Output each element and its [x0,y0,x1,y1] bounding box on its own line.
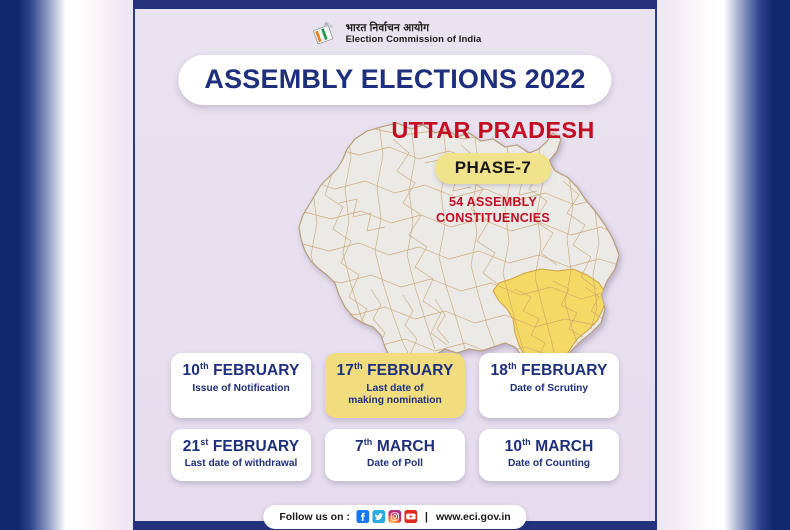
schedule-card[interactable]: 21st FEBRUARY Last date of withdrawal [171,429,311,481]
schedule-date: 10th MARCH [485,438,613,455]
website-url[interactable]: www.eci.gov.in [436,511,511,523]
right-vertical-rule [655,9,657,521]
footer-separator: | [425,511,428,523]
schedule-desc: Last date of withdrawal [177,458,305,471]
schedule-desc: Date of Counting [485,458,613,471]
footer-bar: Follow us on : [263,505,526,529]
poster-panel: भारत निर्वाचन आयोग Election Commission o… [135,9,655,521]
constituency-count-line2: CONSTITUENCIES [368,210,618,226]
facebook-icon[interactable] [356,510,369,523]
twitter-icon[interactable] [372,510,385,523]
schedule-desc: Date of Scrutiny [485,383,613,396]
top-navy-strip [133,0,657,9]
schedule-desc: Issue of Notification [177,383,305,396]
social-links [356,510,417,523]
schedule-grid: 10th FEBRUARY Issue of Notification 17th… [171,353,619,481]
schedule-card[interactable]: 17th FEBRUARY Last date ofmaking nominat… [325,353,465,418]
eci-name-hindi: भारत निर्वाचन आयोग [346,23,482,35]
follow-us-label: Follow us on : [279,511,350,523]
schedule-row: 10th FEBRUARY Issue of Notification 17th… [171,353,619,418]
youtube-icon[interactable] [404,510,417,523]
eci-org-text: भारत निर्वाचन आयोग Election Commission o… [346,23,482,45]
page-title: ASSEMBLY ELECTIONS 2022 [178,55,611,105]
instagram-icon[interactable] [388,510,401,523]
constituency-count-line1: 54 ASSEMBLY [368,194,618,210]
schedule-date: 17th FEBRUARY [331,362,459,379]
schedule-desc: Last date ofmaking nomination [331,383,459,409]
page-title-text: ASSEMBLY ELECTIONS 2022 [204,64,585,94]
schedule-card[interactable]: 10th MARCH Date of Counting [479,429,619,481]
eci-ballot-box-icon [309,19,339,49]
schedule-card[interactable]: 10th FEBRUARY Issue of Notification [171,353,311,418]
schedule-card[interactable]: 7th MARCH Date of Poll [325,429,465,481]
eci-header: भारत निर्वाचन आयोग Election Commission o… [135,19,655,49]
phase-badge: PHASE-7 [435,153,552,184]
phase-badge-label: PHASE-7 [455,158,532,177]
constituency-count: 54 ASSEMBLY CONSTITUENCIES [368,194,618,226]
state-name: UTTAR PRADESH [368,117,618,144]
schedule-date: 7th MARCH [331,438,459,455]
schedule-desc: Date of Poll [331,458,459,471]
schedule-row: 21st FEBRUARY Last date of withdrawal 7t… [171,429,619,481]
state-info-block: UTTAR PRADESH PHASE-7 54 ASSEMBLY CONSTI… [368,117,618,226]
schedule-date: 21st FEBRUARY [177,438,305,455]
poster-canvas: भारत निर्वाचन आयोग Election Commission o… [0,0,790,530]
schedule-card[interactable]: 18th FEBRUARY Date of Scrutiny [479,353,619,418]
schedule-date: 18th FEBRUARY [485,362,613,379]
schedule-date: 10th FEBRUARY [177,362,305,379]
eci-name-english: Election Commission of India [346,35,482,46]
